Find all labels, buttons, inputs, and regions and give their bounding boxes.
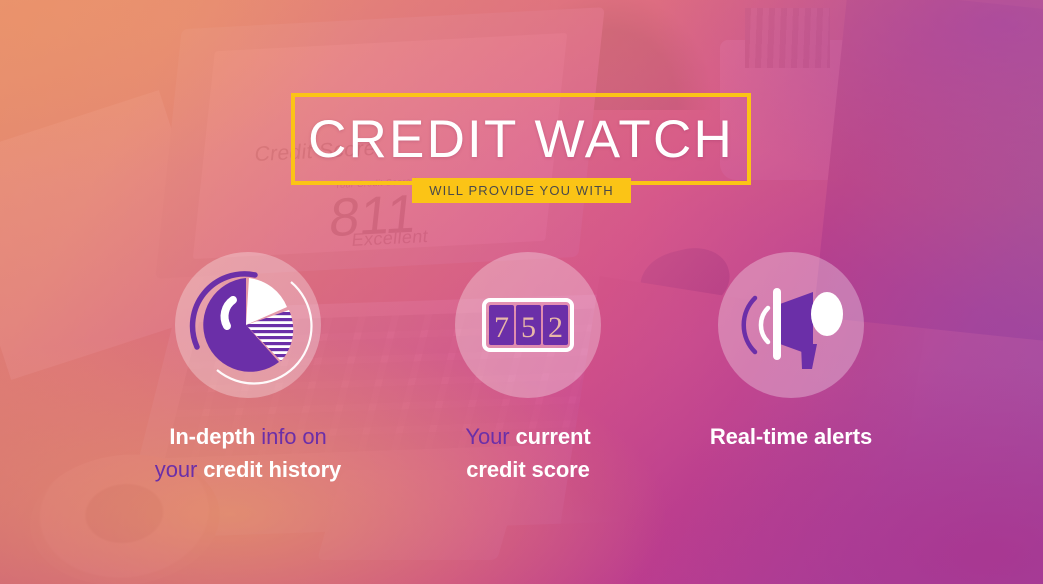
score-digit-3: 2 [548, 311, 563, 344]
feature-icon-circle: 7 5 2 [455, 252, 601, 398]
caption-bold-1: Real-time alerts [710, 424, 872, 449]
slide-canvas: Credit Score Your Credit Score is 811 Ex… [0, 0, 1043, 584]
feature-row: In-depth info on your credit history 7 5… [0, 252, 1043, 482]
subtitle-banner: WILL PROVIDE YOU WITH [412, 178, 631, 203]
feature-icon-circle [175, 252, 321, 398]
feature-caption: Your current credit score [378, 420, 678, 486]
feature-item-realtime-alerts: Real-time alerts [641, 252, 941, 453]
feature-icon-circle [718, 252, 864, 398]
megaphone-icon [718, 252, 864, 398]
feature-item-credit-score: 7 5 2 Your current credit score [378, 252, 678, 486]
caption-bold-1: In-depth [169, 424, 255, 449]
subtitle-text: WILL PROVIDE YOU WITH [429, 183, 614, 198]
caption-bold-1: current [515, 424, 590, 449]
caption-bold-2: credit history [203, 457, 341, 482]
feature-caption: Real-time alerts [641, 420, 941, 453]
caption-light-2: your [155, 457, 203, 482]
caption-light-1: info on [255, 424, 326, 449]
pie-chart-icon [175, 252, 321, 398]
page-title: CREDIT WATCH [291, 93, 751, 185]
feature-item-credit-history: In-depth info on your credit history [98, 252, 398, 486]
score-digit-1: 7 [494, 311, 509, 344]
score-digit-2: 5 [521, 311, 536, 344]
credit-score-digits-icon: 7 5 2 [455, 252, 601, 398]
caption-light-1: Your [465, 424, 515, 449]
feature-caption: In-depth info on your credit history [98, 420, 398, 486]
caption-bold-2: credit score [466, 457, 590, 482]
